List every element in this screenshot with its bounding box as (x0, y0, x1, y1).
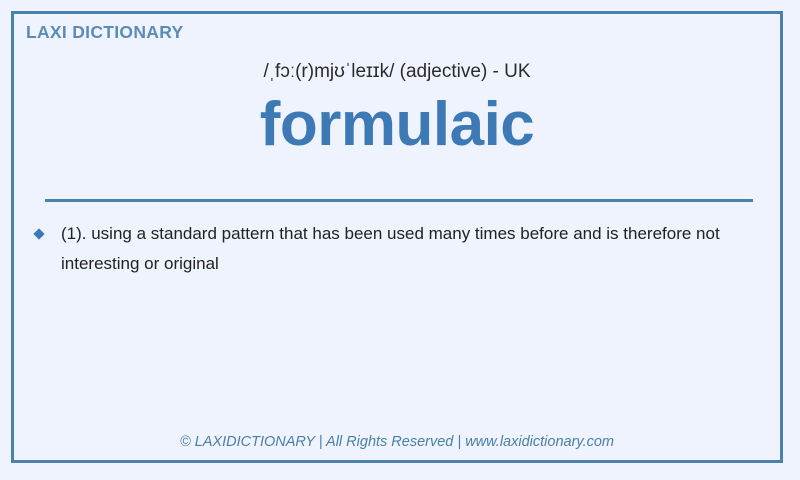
list-item: (1). using a standard pattern that has b… (14, 219, 780, 279)
dictionary-card: LAXI DICTIONARY /ˌfɔː(r)mjʊˈleɪɪk/ (adje… (11, 11, 783, 463)
headword: formulaic (14, 88, 780, 161)
footer-copyright: © LAXIDICTIONARY | All Rights Reserved |… (14, 434, 780, 450)
divider (45, 199, 753, 202)
pronunciation-line: /ˌfɔː(r)mjʊˈleɪɪk/ (adjective) - UK (14, 61, 780, 83)
diamond-bullet-icon (33, 228, 44, 239)
definition-list: (1). using a standard pattern that has b… (14, 219, 780, 279)
definition-text: (1). using a standard pattern that has b… (61, 224, 720, 273)
page-title: LAXI DICTIONARY (26, 22, 183, 43)
